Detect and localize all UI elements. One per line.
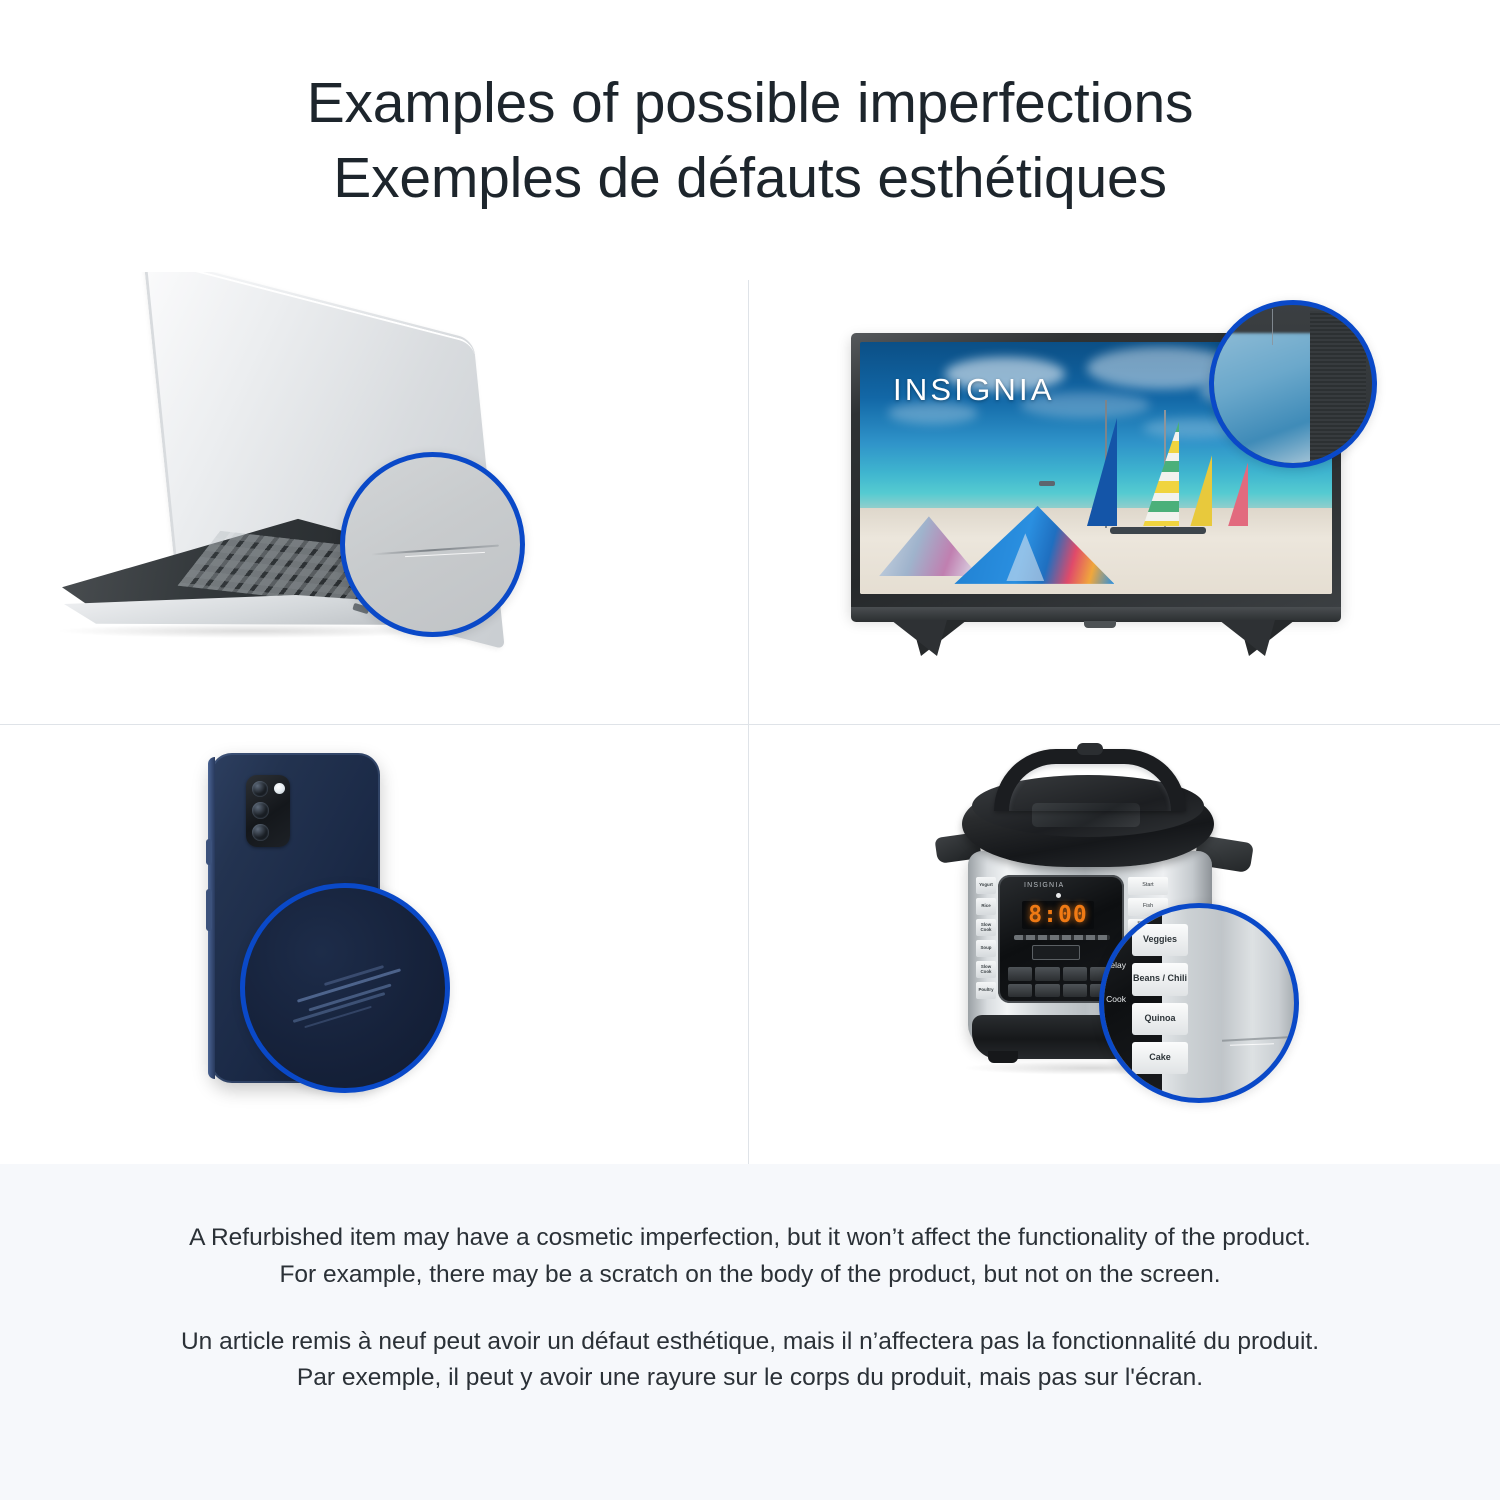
example-cell-television: INSIGNIA xyxy=(749,272,1497,724)
cooker-side-button[interactable]: Start xyxy=(1128,877,1168,895)
cooker-sub-display xyxy=(1032,945,1080,960)
cooker-zoom-label: Slow Cook xyxy=(1099,994,1126,1004)
cooker-button[interactable] xyxy=(1063,967,1087,981)
cooker-left-button[interactable]: Yogurt xyxy=(976,877,996,894)
refurbished-imperfections-infographic: Examples of possible imperfections Exemp… xyxy=(0,0,1500,1500)
cooker-zoom-buttons: Veggies Beans / Chili Quinoa Cake xyxy=(1132,924,1188,1074)
magnifier-circle-laptop xyxy=(340,452,525,637)
cooker-left-button-column: Yogurt Rice Slow Cook Soup Slow Cook Pou… xyxy=(976,877,996,999)
cooker-zoom-button[interactable]: Quinoa xyxy=(1132,1003,1188,1035)
cooker-lid-handle xyxy=(994,749,1186,811)
example-cell-pressure-cooker: Yogurt Rice Slow Cook Soup Slow Cook Pou… xyxy=(749,725,1497,1177)
page-header: Examples of possible imperfections Exemp… xyxy=(0,0,1500,272)
cooker-scuff-highlight xyxy=(1230,1043,1274,1046)
cooker-button[interactable] xyxy=(1008,984,1032,998)
tv-corner-scuff xyxy=(1310,311,1366,461)
cooker-led-display: 8:00 xyxy=(1022,901,1094,929)
description-paragraph-fr: Un article remis à neuf peut avoir un dé… xyxy=(168,1324,1332,1398)
magnifier-circle-television xyxy=(1209,300,1377,468)
pressure-cooker-illustration: Yogurt Rice Slow Cook Soup Slow Cook Pou… xyxy=(914,743,1344,1153)
camera-lens-icon xyxy=(252,802,269,819)
camera-lens-icon xyxy=(252,781,268,797)
tv-stand-leg xyxy=(891,620,947,656)
magnifier-circle-pressure-cooker: Delay Slow Cook Veggies Beans / Chili Qu… xyxy=(1099,903,1299,1103)
cooker-button[interactable] xyxy=(1063,984,1087,998)
phone-scratch-mark xyxy=(308,983,391,1011)
pink-sail-shape xyxy=(1228,462,1248,526)
cooker-left-button[interactable]: Slow Cook xyxy=(976,961,996,978)
cooker-zoom-button[interactable]: Cake xyxy=(1132,1042,1188,1074)
example-cell-laptop xyxy=(0,272,748,724)
catamaran-hull-shape xyxy=(1110,527,1206,534)
page-title-en: Examples of possible imperfections xyxy=(307,66,1194,141)
magnifier-circle-smartphone xyxy=(240,883,450,1093)
cooker-button[interactable] xyxy=(1008,967,1032,981)
cooker-left-button[interactable]: Soup xyxy=(976,940,996,957)
tv-bezel-seam-mark xyxy=(1272,309,1273,345)
tv-screen-zoom xyxy=(1209,333,1318,468)
page-title-fr: Exemples de défauts esthétiques xyxy=(333,141,1167,216)
cooker-pressure-valve-icon xyxy=(1077,743,1103,755)
television-illustration: INSIGNIA xyxy=(839,300,1399,700)
cooker-zoom-label: Delay xyxy=(1099,960,1126,970)
insignia-logo-tv: INSIGNIA xyxy=(893,372,1055,408)
cooker-pressure-scale xyxy=(1014,935,1110,940)
example-cell-smartphone xyxy=(0,725,748,1177)
cooker-zoom-left-labels: Delay Slow Cook xyxy=(1099,960,1126,1004)
camera-flash-icon xyxy=(274,783,285,794)
description-paragraph-en: A Refurbished item may have a cosmetic i… xyxy=(168,1220,1332,1294)
cooker-button-grid[interactable] xyxy=(1008,967,1114,997)
cooker-left-button[interactable]: Rice xyxy=(976,898,996,915)
cooker-button[interactable] xyxy=(1035,984,1059,998)
blue-sail-shape xyxy=(1087,418,1117,526)
cooker-button[interactable] xyxy=(1035,967,1059,981)
yellow-sail-shape xyxy=(1190,454,1212,526)
examples-grid: INSIGNIA xyxy=(0,272,1500,1164)
phone-power-button xyxy=(206,889,212,931)
insignia-logo-cooker: INSIGNIA xyxy=(1024,882,1064,889)
tv-badge xyxy=(1084,621,1116,628)
laptop-shadow xyxy=(60,624,440,638)
cooker-left-button[interactable]: Poultry xyxy=(976,982,996,999)
camera-lens-icon xyxy=(252,824,269,841)
laptop-scratch-highlight xyxy=(405,552,485,557)
cooker-left-button[interactable]: Slow Cook xyxy=(976,919,996,936)
tv-stand-leg xyxy=(1219,620,1275,656)
smartphone-illustration xyxy=(190,747,560,1157)
cooker-display-value: 8:00 xyxy=(1028,902,1087,928)
cooker-scuff-mark xyxy=(1222,1036,1288,1041)
cooker-indicator-light xyxy=(1056,893,1061,898)
cooker-zoom-button[interactable]: Beans / Chili xyxy=(1132,963,1188,995)
footer-description: A Refurbished item may have a cosmetic i… xyxy=(0,1164,1500,1500)
laptop-illustration xyxy=(40,292,560,692)
cooker-zoom-button[interactable]: Veggies xyxy=(1132,924,1188,956)
camera-module xyxy=(246,775,290,847)
distant-boat-shape xyxy=(1039,481,1055,486)
phone-volume-button xyxy=(206,839,212,865)
